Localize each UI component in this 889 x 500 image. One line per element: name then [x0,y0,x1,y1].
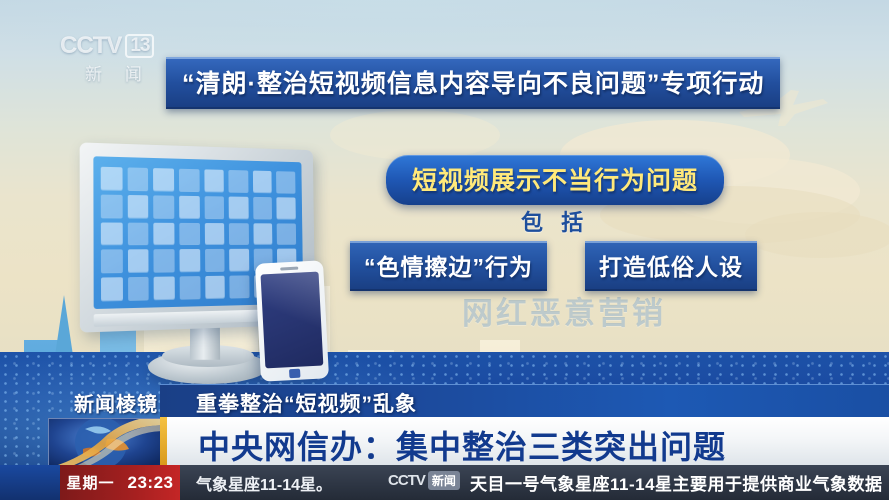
subheadline: 重拳整治“短视频”乱象 [196,388,417,418]
topic-pill: 短视频展示不当行为问题 [386,155,724,205]
campaign-title-banner: “清朗·整治短视频信息内容导向不良问题”专项行动 [166,57,780,109]
channel-subtitle: 新 闻 [60,60,170,85]
category-box-1: “色情擦边”行为 [350,241,547,291]
clock-time: 23:23 [128,473,174,493]
channel-logo-name: CCTV13 [60,33,170,59]
ticker-left-cap [0,465,60,500]
includes-label: 包 括 [521,205,589,237]
phone-speaker [280,267,298,271]
program-label: 新闻棱镜 [74,388,158,417]
cloud-shape [330,110,500,160]
clock-box: 星期一 23:23 [60,465,180,500]
weekday-label: 星期一 [67,472,115,493]
channel-logo: CCTV13 新 闻 [60,33,170,85]
phone-home-button [289,369,300,379]
smartphone-illustration [255,260,329,381]
ticker-channel-logo: CCTV 新闻 [388,471,460,490]
ticker-text-secondary: 气象星座11-14星。 [196,471,332,495]
ghost-watermark-text: 网红恶意营销 [462,288,666,333]
topic-pill-text: 短视频展示不当行为问题 [412,167,698,195]
monitor-stand [190,325,220,360]
headline-bar: 中央网信办：集中整治三类突出问题 [160,417,889,466]
headline-text: 中央网信办：集中整治三类突出问题 [198,422,726,468]
channel-number: 13 [125,34,154,58]
campaign-title-text: “清朗·整治短视频信息内容导向不良问题”专项行动 [182,70,764,98]
ticker-cctv-text: CCTV [388,472,425,489]
category-box-2-text: 打造低俗人设 [599,254,743,280]
phone-screen [261,272,324,369]
broadcast-screen: 网红恶意营销 [0,0,889,500]
globe-logo-icon [49,419,161,471]
ticker-news-badge: 新闻 [428,471,460,490]
ticker-text-main: 天目一号气象星座11-14星主要用于提供商业气象数据 [470,470,883,495]
phone-screen-glare [261,272,324,369]
category-box-2: 打造低俗人设 [585,241,757,291]
program-logo [48,418,162,472]
headline-accent-bar [160,417,167,465]
category-box-1-text: “色情擦边”行为 [364,254,533,280]
channel-name-text: CCTV [60,32,121,59]
